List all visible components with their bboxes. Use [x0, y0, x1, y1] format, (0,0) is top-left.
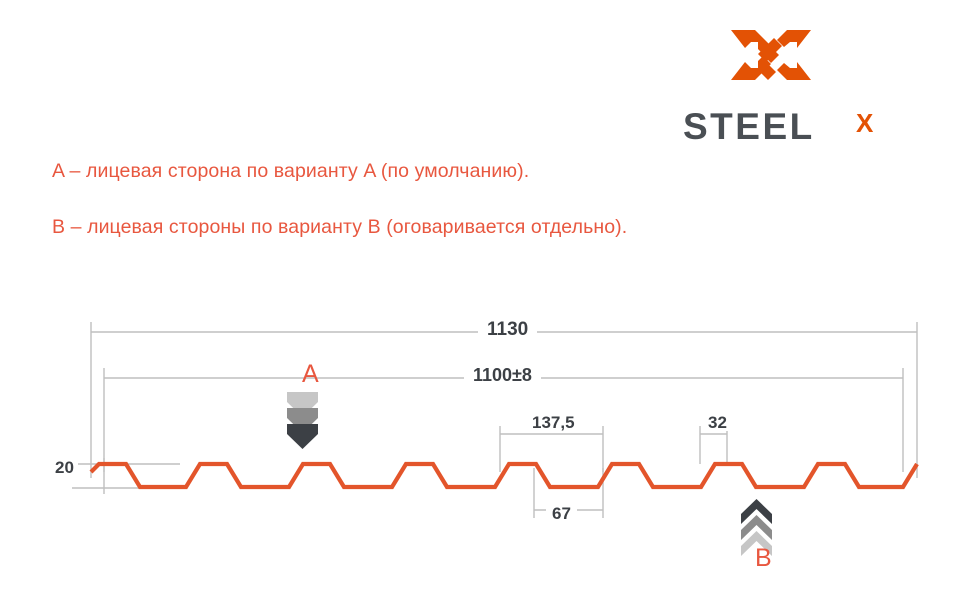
face-marker-label-b: B: [755, 546, 772, 571]
wordmark-text: STEEL: [683, 106, 815, 147]
brand-logo: STEEL X: [683, 14, 898, 146]
face-marker-a: [287, 392, 318, 449]
dimension-label-1130: 1130: [478, 320, 537, 339]
dimension-label-32: 32: [703, 414, 732, 431]
steelx-x-logo-icon: [730, 14, 812, 96]
legend-line-a: A – лицевая сторона по варианту A (по ум…: [52, 160, 529, 183]
steelx-wordmark: STEEL X: [683, 106, 898, 148]
wordmark-suffix: X: [856, 108, 874, 138]
dimension-1130: [91, 322, 917, 478]
profile-drawing: 1130 1100±8 137,5 32 67 20 A B: [0, 296, 970, 597]
dimension-label-20: 20: [51, 459, 78, 476]
dimension-label-1100: 1100±8: [464, 366, 541, 384]
drawing-page: STEEL X A – лицевая сторона по варианту …: [0, 0, 970, 597]
dimension-label-67: 67: [546, 505, 577, 522]
dimension-label-137-5: 137,5: [525, 414, 582, 431]
legend-line-b: B – лицевая стороны по варианту B (огова…: [52, 216, 627, 239]
profile-svg: [0, 296, 970, 597]
face-marker-label-a: A: [302, 362, 319, 387]
profile-polyline: [91, 464, 917, 487]
